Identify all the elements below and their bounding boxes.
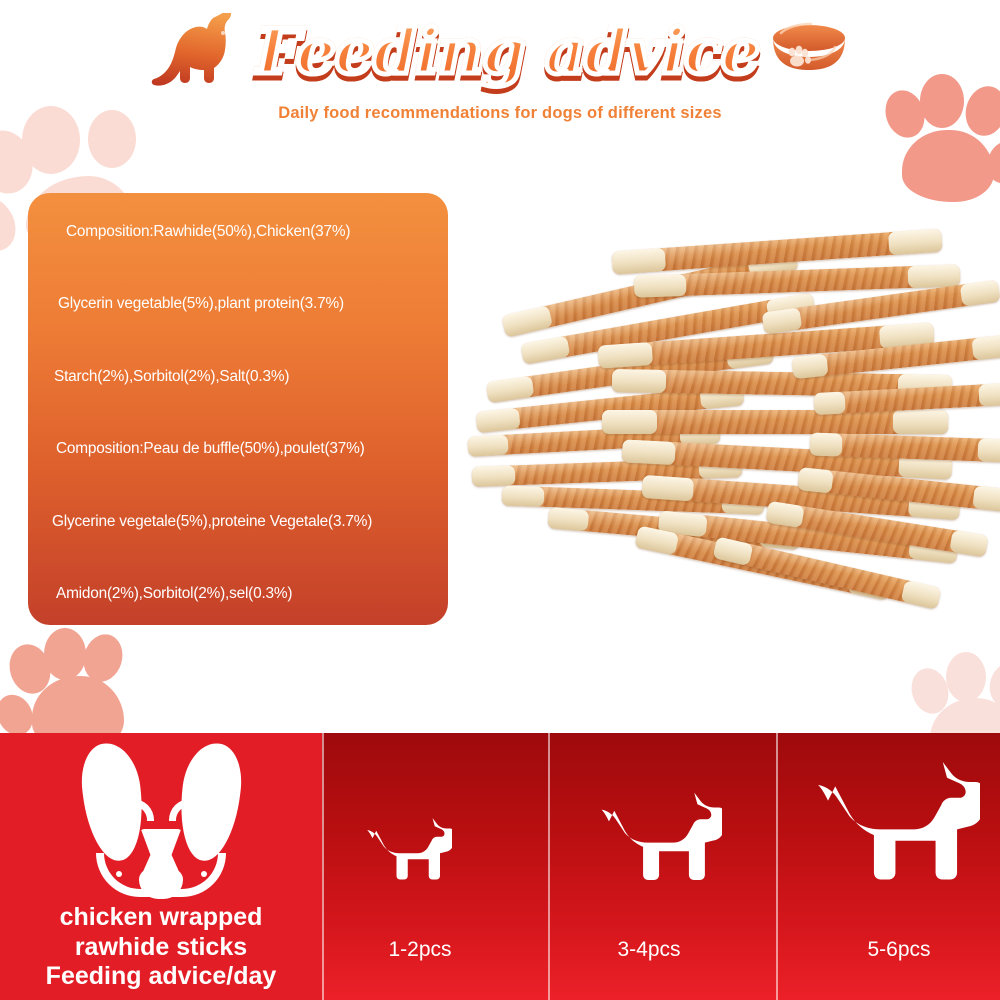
size-label-large: 5-6pcs [788, 938, 1000, 962]
dog-food-bowl-icon [769, 21, 849, 83]
feeding-advice-band: chicken wrapped rawhide sticks Feeding a… [0, 733, 1000, 1000]
dog-silhouette-large-icon [808, 749, 980, 924]
size-panel-large[interactable]: 5-6pcs [776, 733, 1000, 1000]
page-subtitle: Daily food recommendations for dogs of d… [0, 104, 1000, 123]
composition-line-5: Glycerine vegetale(5%),proteine Vegetale… [46, 513, 430, 531]
brand-panel: chicken wrapped rawhide sticks Feeding a… [0, 733, 322, 1000]
size-panel-medium[interactable]: 3-4pcs [548, 733, 776, 1000]
product-photo [462, 222, 1000, 642]
dog-silhouette-medium-icon [594, 783, 722, 913]
page-header: Feeding advice [0, 0, 1000, 150]
composition-panel: Composition:Rawhide(50%),Chicken(37%) Gl… [28, 193, 448, 625]
size-label-small: 1-2pcs [308, 938, 532, 962]
composition-line-3: Starch(2%),Sorbitol(2%),Salt(0.3%) [46, 368, 430, 386]
sitting-dog-silhouette-icon [151, 13, 247, 91]
size-label-medium: 3-4pcs [536, 938, 762, 962]
composition-line-4: Composition:Peau de buffle(50%),poulet(3… [46, 440, 430, 458]
dog-silhouette-small-icon [362, 811, 452, 903]
brand-line-2: rawhide sticks [46, 933, 277, 963]
title-row: Feeding advice [0, 8, 1000, 96]
feeding-advice-infographic: Feeding advice [0, 0, 1000, 1000]
composition-line-6: Amidon(2%),Sorbitol(2%),sel(0.3%) [46, 585, 430, 603]
brand-line-3: Feeding advice/day [46, 962, 277, 992]
composition-line-2: Glycerin vegetable(5%),plant protein(3.7… [46, 295, 430, 313]
dog-face-icon [54, 741, 269, 901]
size-panel-small[interactable]: 1-2pcs [322, 733, 548, 1000]
composition-line-1: Composition:Rawhide(50%),Chicken(37%) [46, 223, 430, 241]
page-title: Feeding advice [253, 21, 764, 83]
brand-line-1: chicken wrapped [46, 903, 277, 933]
brand-text-block: chicken wrapped rawhide sticks Feeding a… [46, 903, 277, 992]
